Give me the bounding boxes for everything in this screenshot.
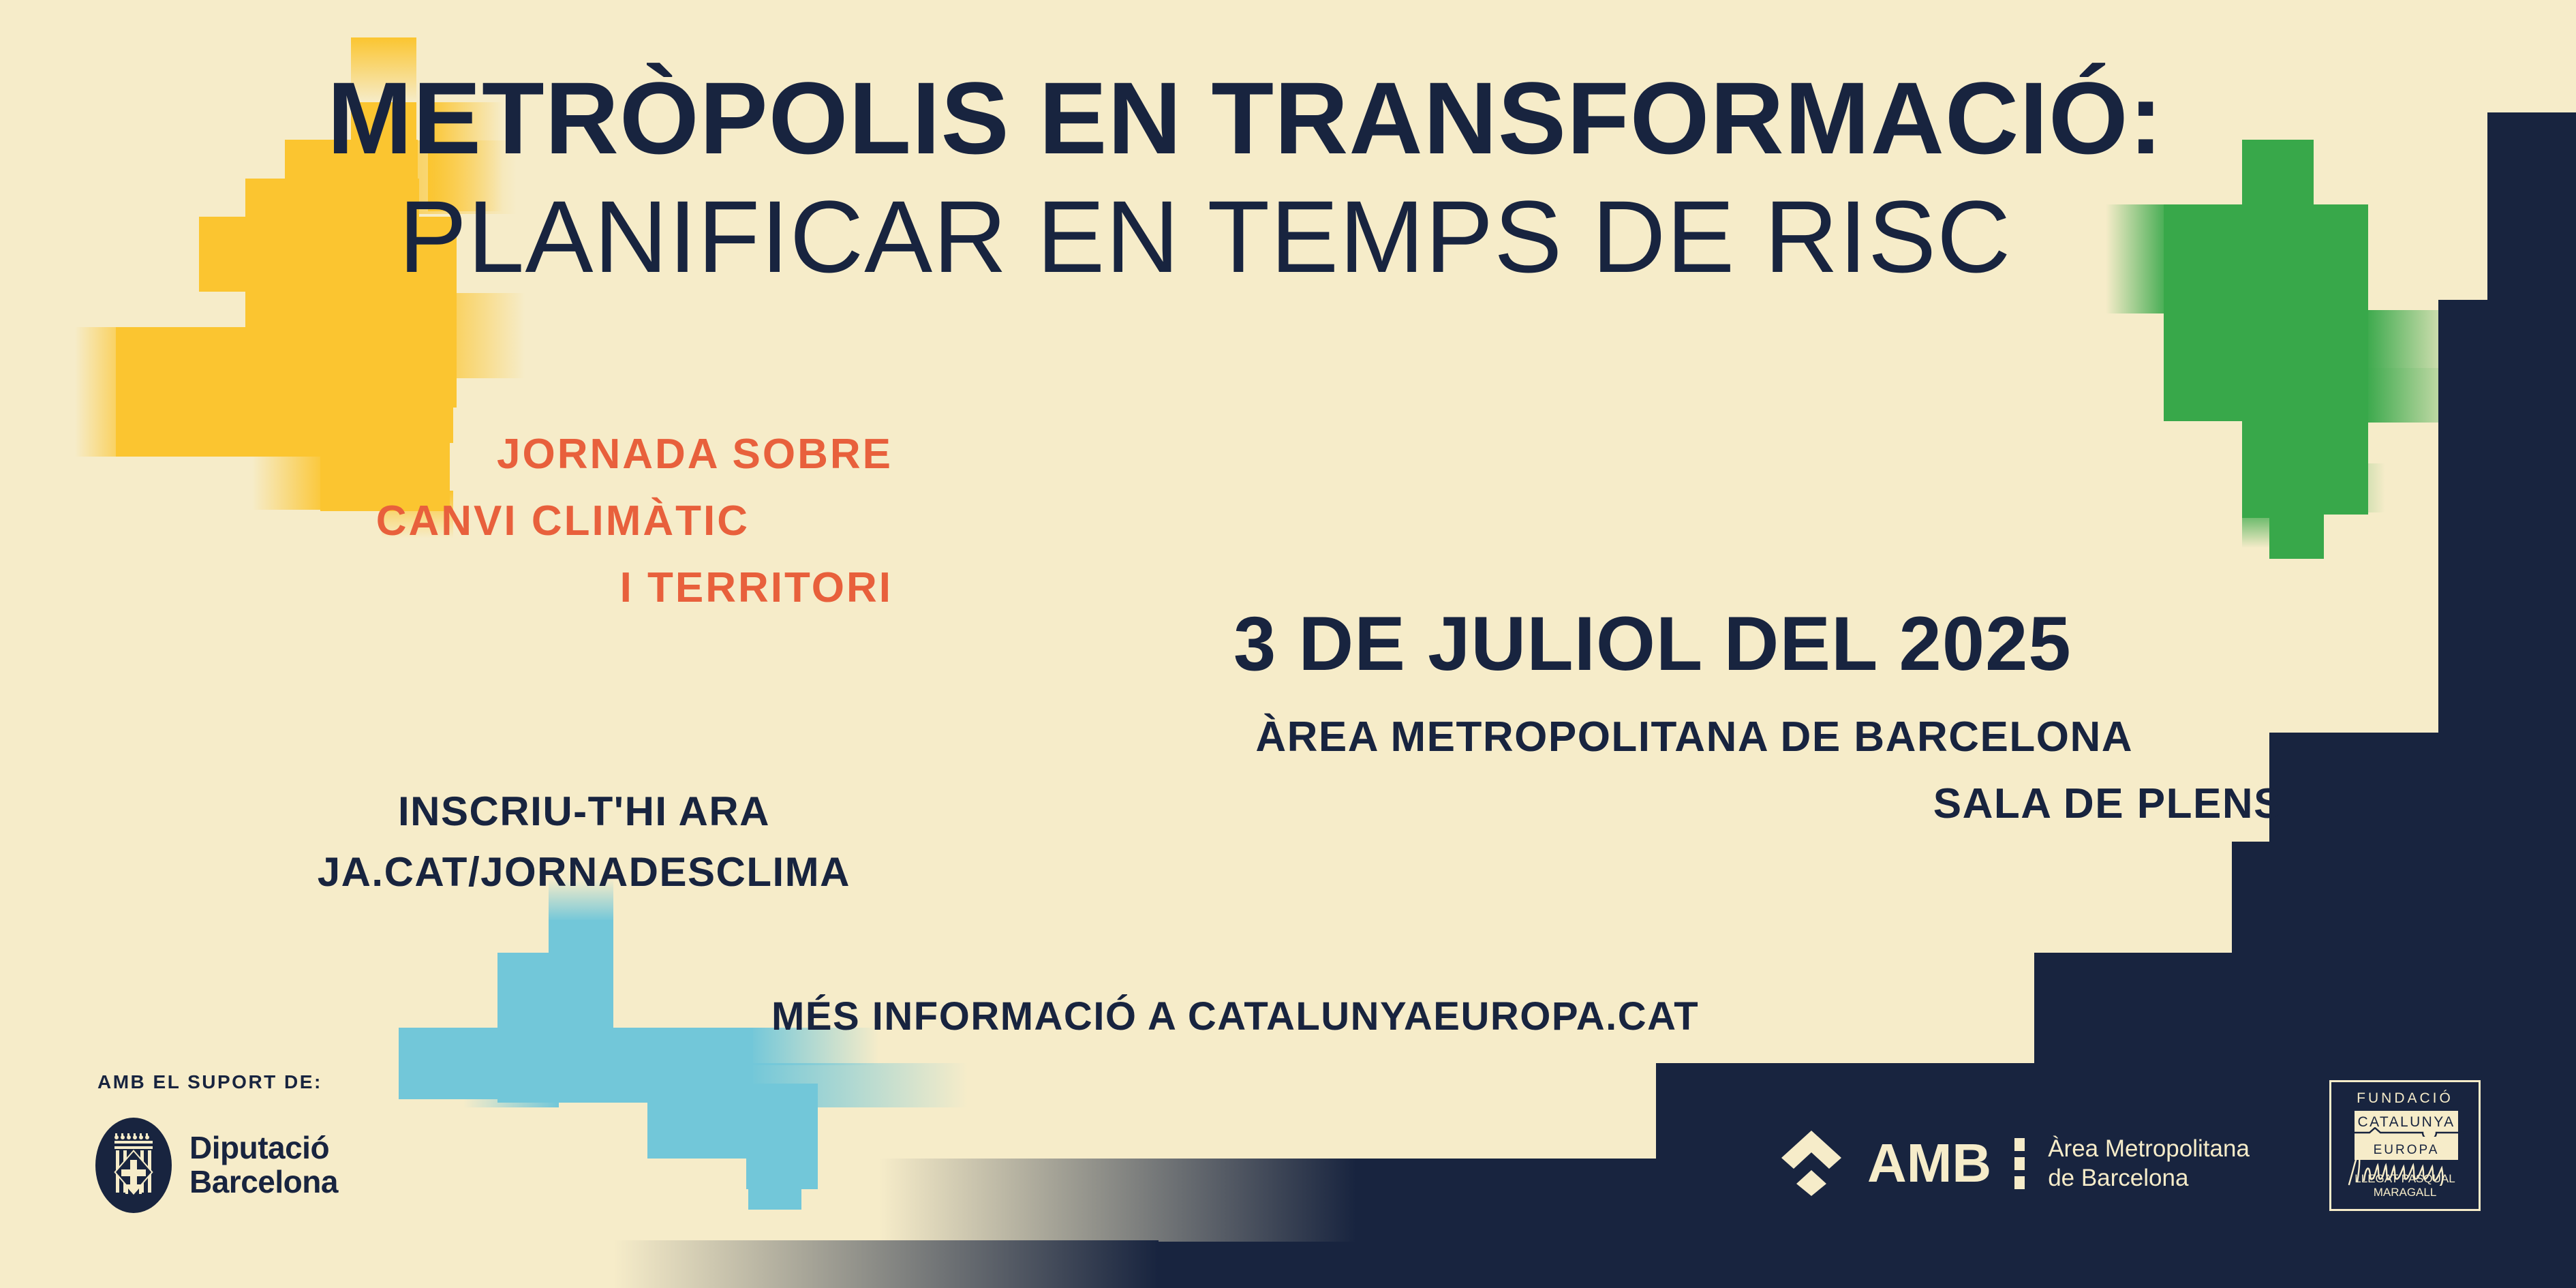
subtitle-line1: JORNADA SOBRE bbox=[0, 429, 893, 479]
green-fade-left-1 bbox=[2106, 204, 2171, 313]
navy-gradient-row-1 bbox=[879, 1159, 1356, 1242]
registration-cta[interactable]: INSCRIU-T'HI ARA bbox=[0, 782, 770, 840]
amb-logo: AMB Àrea Metropolitana de Barcelona bbox=[1779, 1128, 2250, 1199]
event-date: 3 DE JULIOL DEL 2025 bbox=[1233, 600, 2072, 688]
page-title-line2: PLANIFICAR EN TEMPS DE RISC bbox=[399, 185, 2011, 288]
green-fade-down-1 bbox=[2242, 506, 2320, 548]
fundacio-wave-icon bbox=[2346, 1127, 2466, 1137]
diputacio-line2: Barcelona bbox=[189, 1165, 338, 1199]
diputacio-line1: Diputació bbox=[189, 1131, 338, 1165]
green-block-3 bbox=[2164, 204, 2368, 313]
blue-block-1 bbox=[549, 920, 613, 954]
fundacio-top-label: FUNDACIÓ bbox=[2331, 1090, 2479, 1107]
poster-canvas: METRÒPOLIS EN TRANSFORMACIÓ: PLANIFICAR … bbox=[0, 0, 2576, 1288]
blue-block-8 bbox=[748, 1138, 801, 1210]
more-info-url[interactable]: MÉS INFORMACIÓ A CATALUNYAEUROPA.CAT bbox=[771, 994, 1699, 1039]
registration-url[interactable]: JA.CAT/JORNADESCLIMA bbox=[0, 843, 850, 901]
navy-gradient-row-2 bbox=[613, 1240, 1159, 1288]
navy-step-3 bbox=[2438, 300, 2576, 504]
amb-chevron-icon bbox=[1779, 1128, 1844, 1199]
amb-subtitle-line2: de Barcelona bbox=[2048, 1163, 2250, 1193]
fundacio-legacy-label: LLEGAT PASQUAL MARAGALL bbox=[2331, 1172, 2479, 1199]
subtitle-line3: I TERRITORI bbox=[0, 563, 893, 613]
blue-fade-left-1 bbox=[463, 1063, 559, 1107]
amb-wordmark: AMB bbox=[1867, 1136, 1991, 1191]
event-venue-line1: ÀREA METROPOLITANA DE BARCELONA bbox=[0, 709, 2133, 766]
diputacio-seal-icon bbox=[95, 1118, 172, 1213]
blue-block-2 bbox=[497, 953, 613, 1028]
blue-fade-right-2 bbox=[750, 1063, 968, 1107]
support-label: AMB EL SUPORT DE: bbox=[97, 1071, 322, 1093]
diputacio-barcelona-wordmark: Diputació Barcelona bbox=[189, 1131, 338, 1199]
diputacio-barcelona-logo: Diputació Barcelona bbox=[95, 1118, 338, 1213]
amb-subtitle: Àrea Metropolitana de Barcelona bbox=[2048, 1134, 2250, 1193]
subtitle-line2: CANVI CLIMÀTIC bbox=[0, 496, 750, 546]
page-title-line1: METRÒPOLIS EN TRANSFORMACIÓ: bbox=[327, 67, 2164, 169]
amb-dots-separator bbox=[2014, 1138, 2025, 1189]
yellow-fade-right-3 bbox=[423, 293, 525, 378]
amb-subtitle-line1: Àrea Metropolitana bbox=[2048, 1134, 2250, 1163]
fundacio-catalunya-europa-logo: FUNDACIÓ CATALUNYA EUROPA LLEGAT PASQUAL… bbox=[2329, 1080, 2481, 1211]
